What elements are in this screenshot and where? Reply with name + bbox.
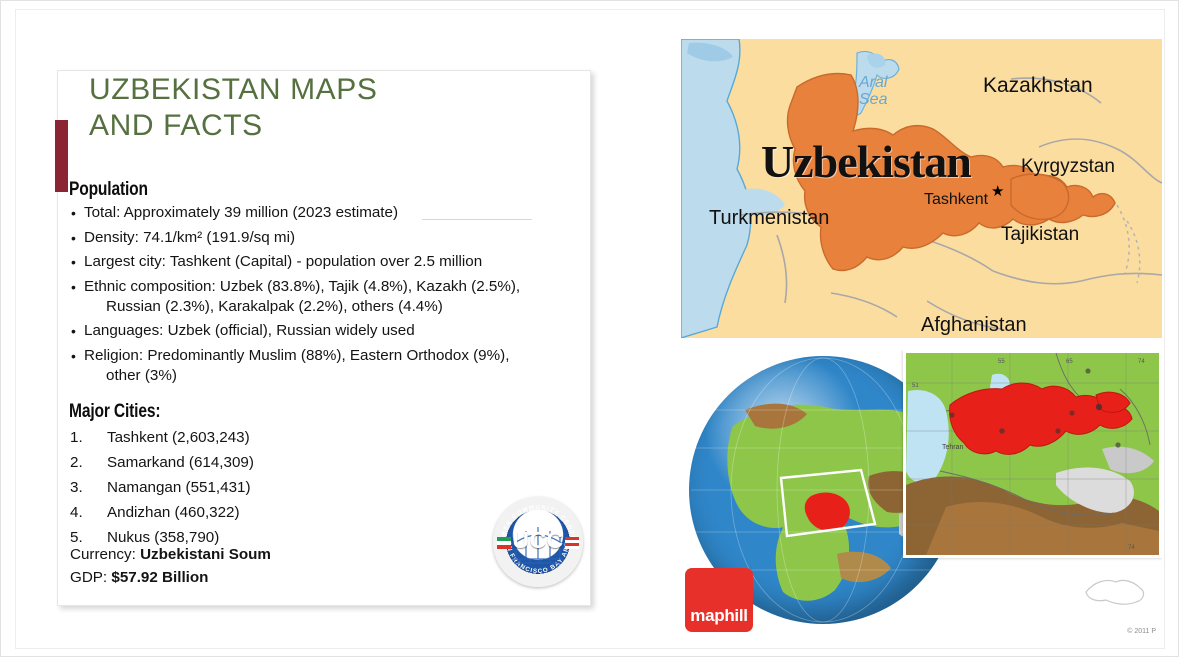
city-name: Samarkand (614,309) — [107, 454, 254, 471]
list-number: 1. — [70, 425, 107, 450]
list-item: 1.Tashkent (2,603,243) — [70, 425, 470, 450]
aral-line-2: Sea — [859, 91, 887, 108]
population-bullet-list: Total: Approximately 39 million (2023 es… — [70, 203, 545, 390]
map-label-kyrgyzstan: Kyrgyzstan — [1021, 156, 1115, 178]
list-item: Languages: Uzbek (official), Russian wid… — [70, 321, 545, 341]
svg-text:Tehran: Tehran — [942, 444, 964, 451]
major-cities-heading: Major Cities: — [69, 401, 160, 423]
bullet-text: Languages: Uzbek (official), Russian wid… — [84, 322, 415, 339]
bullet-text-continuation: Russian (2.3%), Karakalpak (2.2%), other… — [84, 297, 545, 317]
page-title: UZBEKISTAN MAPS AND FACTS — [89, 72, 529, 144]
currency-line: Currency: Uzbekistani Soum — [70, 544, 470, 565]
bullet-text: Religion: Predominantly Muslim (88%), Ea… — [84, 347, 509, 364]
gdp-value: $57.92 Billion — [111, 569, 208, 586]
list-item: 4.Andizhan (460,322) — [70, 500, 470, 525]
map-copyright: © 2011 P — [1127, 628, 1156, 635]
city-name: Namangan (551,431) — [107, 479, 251, 496]
bullet-text-continuation: other (3%) — [84, 366, 545, 386]
map-label-afghanistan: Afghanistan — [921, 314, 1027, 337]
svg-text:74: 74 — [1128, 545, 1135, 551]
political-map-image: Aral Sea Kazakhstan Uzbekistan Kyrgyzsta… — [681, 39, 1162, 338]
currency-value: Uzbekistani Soum — [140, 546, 271, 563]
map-label-uzbekistan: Uzbekistan — [761, 135, 971, 188]
ucc-logo: UZBEK COMMUNITY CENTER SAN FRANCISCO BAY… — [493, 497, 583, 587]
slide-frame: UZBEKISTAN MAPS AND FACTS Population Tot… — [15, 9, 1165, 649]
bullet-text: Largest city: Tashkent (Capital) - popul… — [84, 253, 482, 270]
aral-line-1: Aral — [859, 74, 887, 91]
map-label-aral-sea: Aral Sea — [859, 74, 887, 108]
map-label-kazakhstan: Kazakhstan — [983, 74, 1093, 98]
list-item: Total: Approximately 39 million (2023 es… — [70, 203, 545, 223]
gdp-line: GDP: $57.92 Billion — [70, 567, 470, 588]
population-heading: Population — [69, 179, 148, 201]
city-name: Andizhan (460,322) — [107, 504, 240, 521]
gdp-label: GDP: — [70, 569, 107, 586]
bullet-text: Density: 74.1/km² (191.9/sq mi) — [84, 229, 295, 246]
major-cities-list: 1.Tashkent (2,603,243) 2.Samarkand (614,… — [70, 425, 470, 550]
title-line-2: AND FACTS — [89, 108, 529, 144]
inset-detail-map: 5565 7451 74 — [903, 350, 1162, 558]
capital-star-icon: ★ — [991, 182, 1004, 200]
svg-text:55: 55 — [998, 359, 1005, 365]
list-number: 2. — [70, 450, 107, 475]
title-line-1: UZBEKISTAN MAPS — [89, 73, 378, 106]
list-item: Religion: Predominantly Muslim (88%), Ea… — [70, 346, 545, 386]
currency-label: Currency: — [70, 546, 136, 563]
slide-canvas: UZBEKISTAN MAPS AND FACTS Population Tot… — [0, 0, 1179, 657]
list-item: Density: 74.1/km² (191.9/sq mi) — [70, 228, 545, 248]
bullet-text: Ethnic composition: Uzbek (83.8%), Tajik… — [84, 278, 520, 295]
list-item: Ethnic composition: Uzbek (83.8%), Tajik… — [70, 277, 545, 317]
map-label-turkmenistan: Turkmenistan — [709, 207, 829, 230]
location-map-image: 5565 7451 74 — [681, 350, 1162, 639]
bullet-text: Total: Approximately 39 million (2023 es… — [84, 204, 398, 221]
list-number: 3. — [70, 475, 107, 500]
maphill-logo: maphill — [685, 568, 753, 632]
inset-map-svg: 5565 7451 74 — [906, 353, 1159, 555]
logo-acronym: UCC — [493, 527, 583, 554]
title-accent-bar — [55, 120, 68, 192]
map-label-tashkent: Tashkent — [924, 191, 988, 209]
svg-text:74: 74 — [1138, 359, 1145, 365]
svg-text:51: 51 — [912, 383, 919, 389]
list-item: 2.Samarkand (614,309) — [70, 450, 470, 475]
city-name: Tashkent (2,603,243) — [107, 429, 250, 446]
list-number: 4. — [70, 500, 107, 525]
list-item: Largest city: Tashkent (Capital) - popul… — [70, 252, 545, 272]
svg-text:65: 65 — [1066, 359, 1073, 365]
map-label-tajikistan: Tajikistan — [1001, 224, 1079, 246]
country-outline-icon — [1082, 576, 1148, 610]
list-item: 3.Namangan (551,431) — [70, 475, 470, 500]
